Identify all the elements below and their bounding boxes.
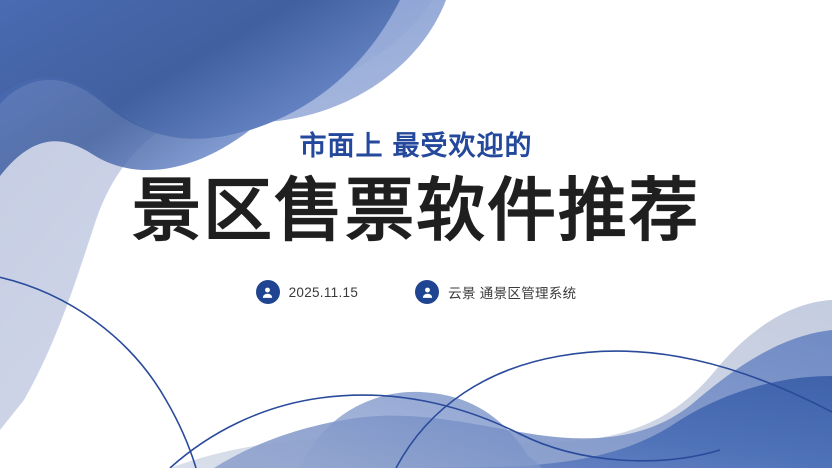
- person-icon: [415, 280, 439, 304]
- meta-item-date: 2025.11.15: [256, 280, 359, 304]
- eyebrow-part-two: 最受欢迎的: [393, 131, 533, 161]
- eyebrow-part-one: 市面上: [300, 131, 384, 161]
- meta-row: 2025.11.15 云景 通景区管理系统: [256, 280, 577, 304]
- person-icon: [256, 280, 280, 304]
- meta-date-label: 2025.11.15: [289, 285, 359, 300]
- slide-content: 市面上最受欢迎的 景区售票软件推荐 2025.11.15: [0, 0, 832, 468]
- eyebrow-line: 市面上最受欢迎的: [300, 133, 533, 160]
- title-slide: 市面上最受欢迎的 景区售票软件推荐 2025.11.15: [0, 0, 832, 468]
- meta-system-label: 云景 通景区管理系统: [448, 282, 576, 302]
- page-title: 景区售票软件推荐: [132, 176, 700, 245]
- meta-item-system: 云景 通景区管理系统: [415, 280, 576, 304]
